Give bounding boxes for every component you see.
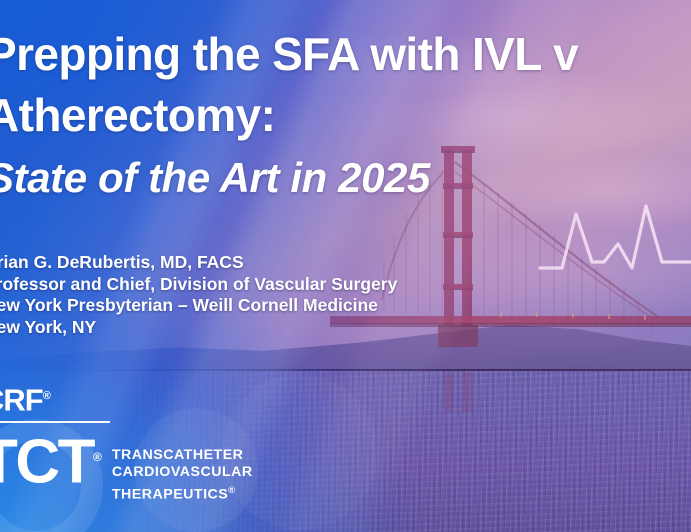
- speaker-name: Brian G. DeRubertis, MD, FACS: [0, 252, 544, 274]
- speaker-location: New York, NY: [0, 317, 544, 339]
- slide-title: Prepping the SFA with IVL v Atherectomy:…: [0, 24, 691, 204]
- crf-tct-logo-lockup: CRF® TCT® TRANSCATHETER CARDIOVASCULAR T…: [0, 379, 280, 504]
- tct-tagline: TRANSCATHETER CARDIOVASCULAR THERAPEUTIC…: [112, 447, 253, 504]
- title-line-2: Atherectomy:: [0, 85, 691, 146]
- tct-tagline-line-1: TRANSCATHETER: [112, 447, 253, 465]
- crf-logo: CRF®: [0, 379, 280, 417]
- tct-tagline-line-3-wrap: THERAPEUTICS®: [112, 482, 253, 504]
- presentation-title-slide: Prepping the SFA with IVL v Atherectomy:…: [0, 0, 691, 532]
- tct-logo-text: TCT: [0, 427, 93, 496]
- crf-logo-text: CRF: [0, 383, 43, 418]
- tct-logo: TCT® TRANSCATHETER CARDIOVASCULAR THERAP…: [0, 425, 280, 504]
- title-line-1: Prepping the SFA with IVL v: [0, 24, 691, 85]
- crf-registered-mark: ®: [43, 390, 50, 402]
- tct-tagline-line-2: CARDIOVASCULAR: [112, 464, 253, 482]
- logo-divider-rule: [0, 421, 110, 423]
- speaker-institution: New York Presbyterian – Weill Cornell Me…: [0, 295, 544, 317]
- tct-registered-mark: ®: [93, 450, 102, 464]
- tct-tagline-registered-mark: ®: [228, 485, 235, 495]
- slide-subtitle: State of the Art in 2025: [0, 152, 691, 203]
- speaker-title: Professor and Chief, Division of Vascula…: [0, 274, 544, 296]
- tct-tagline-line-3: THERAPEUTICS: [112, 487, 228, 503]
- tct-logo-text-wrap: TCT®: [0, 427, 102, 493]
- speaker-info: Brian G. DeRubertis, MD, FACS Professor …: [0, 252, 544, 338]
